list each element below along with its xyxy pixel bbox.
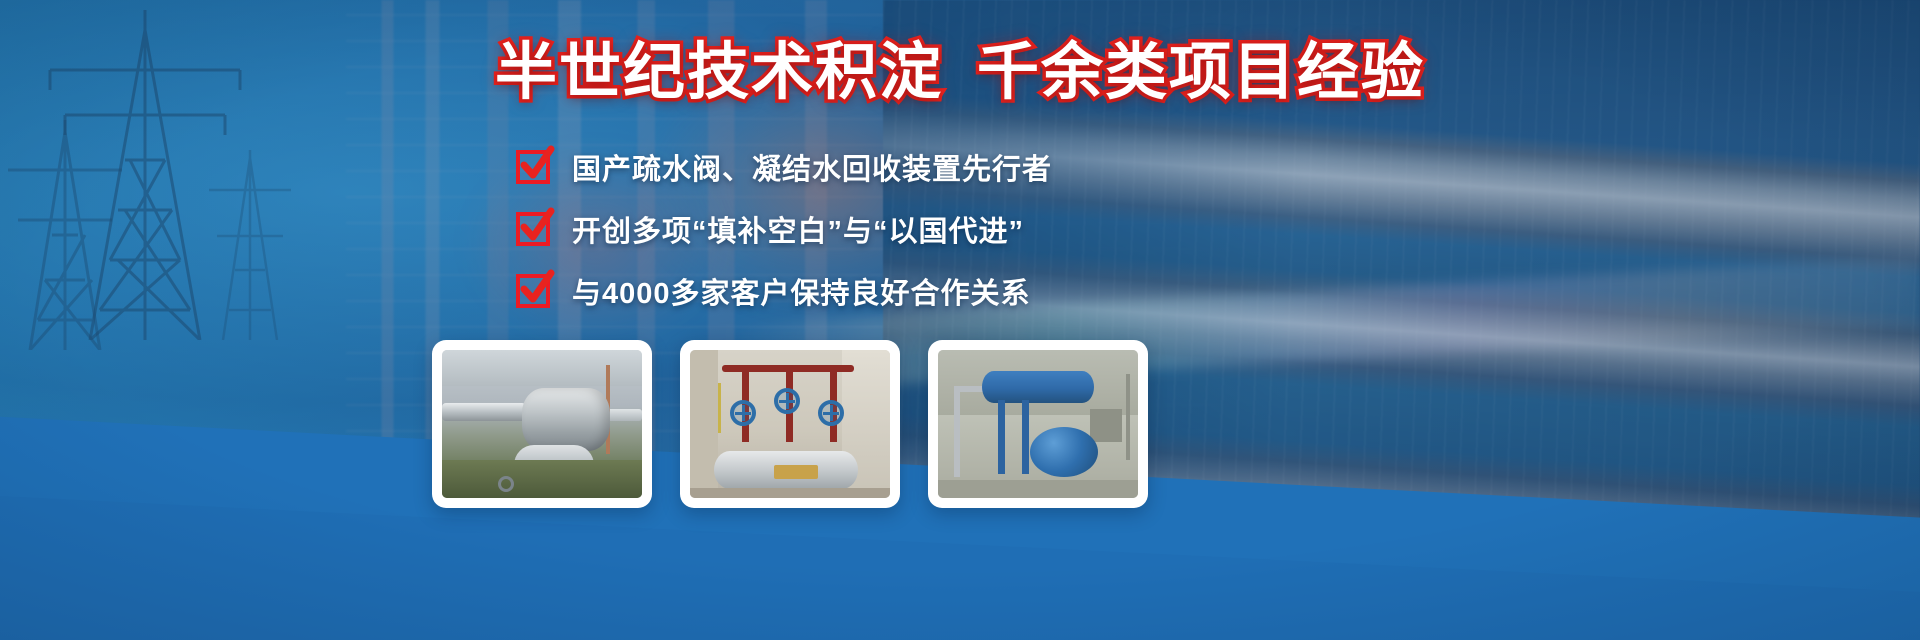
page-title-part1: 半世纪技术积淀 <box>495 38 943 107</box>
list-item: 国产疏水阀、凝结水回收装置先行者 <box>516 146 1052 188</box>
checkbox-checked-icon <box>516 150 550 184</box>
checkbox-checked-icon <box>516 274 550 308</box>
photo-card-1-image <box>442 350 642 498</box>
list-item: 与4000多家客户保持良好合作关系 <box>516 270 1052 312</box>
list-item-label: 国产疏水阀、凝结水回收装置先行者 <box>572 146 1052 188</box>
photo-card-2-image <box>690 350 890 498</box>
photo-card-3-image <box>938 350 1138 498</box>
photo-card-2[interactable] <box>680 340 900 508</box>
list-item: 开创多项“填补空白”与“以国代进” <box>516 208 1052 250</box>
photo-gallery <box>432 340 1148 508</box>
promo-banner: 半世纪技术积淀千余类项目经验 国产疏水阀、凝结水回收装置先行者 开创多项“填补空… <box>0 0 1920 640</box>
photo-card-1[interactable] <box>432 340 652 508</box>
power-pylon-tertiary-icon <box>205 150 295 340</box>
feature-list: 国产疏水阀、凝结水回收装置先行者 开创多项“填补空白”与“以国代进” 与4000… <box>516 146 1052 312</box>
power-pylon-secondary-icon <box>0 120 130 350</box>
list-item-label: 开创多项“填补空白”与“以国代进” <box>572 208 1024 250</box>
page-title: 半世纪技术积淀千余类项目经验 <box>0 42 1920 104</box>
checkbox-checked-icon <box>516 212 550 246</box>
page-title-part2: 千余类项目经验 <box>977 38 1425 107</box>
photo-card-3[interactable] <box>928 340 1148 508</box>
list-item-label: 与4000多家客户保持良好合作关系 <box>572 270 1031 312</box>
